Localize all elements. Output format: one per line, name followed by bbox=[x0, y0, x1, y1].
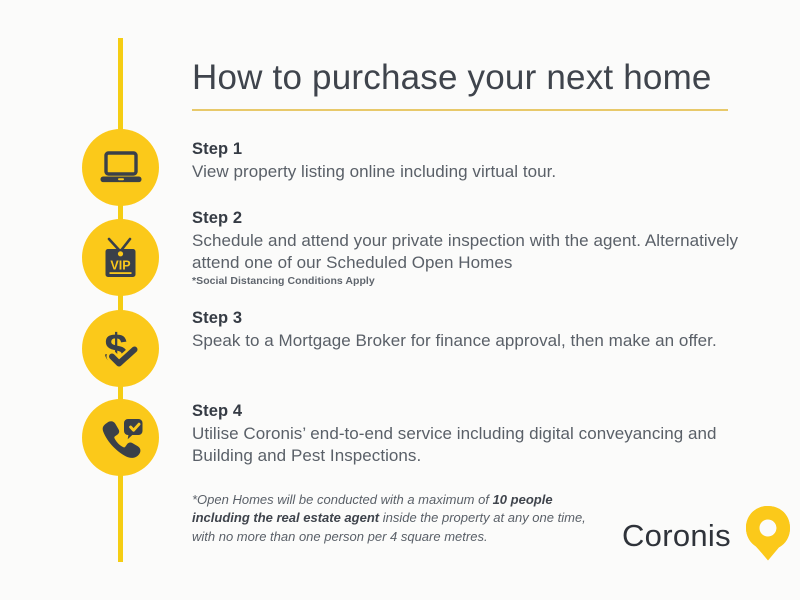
step-bullet-4 bbox=[82, 399, 159, 476]
step-3-body: Speak to a Mortgage Broker for finance a… bbox=[192, 330, 752, 352]
step-2-label: Step 2 bbox=[192, 209, 752, 228]
laptop-icon bbox=[99, 150, 143, 186]
step-block-1: Step 1 View property listing online incl… bbox=[192, 140, 752, 183]
step-2-note: *Social Distancing Conditions Apply bbox=[192, 275, 752, 287]
svg-text:VIP: VIP bbox=[110, 258, 130, 272]
step-1-body: View property listing online including v… bbox=[192, 161, 752, 183]
disclaimer-text: *Open Homes will be conducted with a max… bbox=[192, 491, 612, 546]
step-1-label: Step 1 bbox=[192, 140, 752, 159]
title-underline-rule bbox=[192, 109, 728, 111]
coronis-logo: Coronis bbox=[622, 505, 791, 566]
step-block-3: Step 3 Speak to a Mortgage Broker for fi… bbox=[192, 309, 752, 352]
vip-tag-icon: VIP bbox=[100, 236, 142, 280]
step-bullet-3: $ bbox=[82, 310, 159, 387]
step-block-4: Step 4 Utilise Coronis’ end-to-end servi… bbox=[192, 402, 752, 467]
logo-wordmark: Coronis bbox=[622, 518, 731, 554]
step-4-label: Step 4 bbox=[192, 402, 752, 421]
dollar-check-icon: $ bbox=[99, 327, 143, 371]
step-4-body: Utilise Coronis’ end-to-end service incl… bbox=[192, 423, 752, 467]
step-bullet-1 bbox=[82, 129, 159, 206]
step-block-2: Step 2 Schedule and attend your private … bbox=[192, 209, 752, 287]
step-2-body: Schedule and attend your private inspect… bbox=[192, 230, 752, 274]
coronis-c-pin-icon bbox=[745, 505, 791, 566]
step-bullet-2: VIP bbox=[82, 219, 159, 296]
step-3-label: Step 3 bbox=[192, 309, 752, 328]
phone-check-icon bbox=[98, 417, 144, 459]
page-title: How to purchase your next home bbox=[192, 58, 712, 98]
timeline-spine bbox=[118, 38, 123, 562]
disclaimer-part-1: *Open Homes will be conducted with a max… bbox=[192, 492, 493, 507]
